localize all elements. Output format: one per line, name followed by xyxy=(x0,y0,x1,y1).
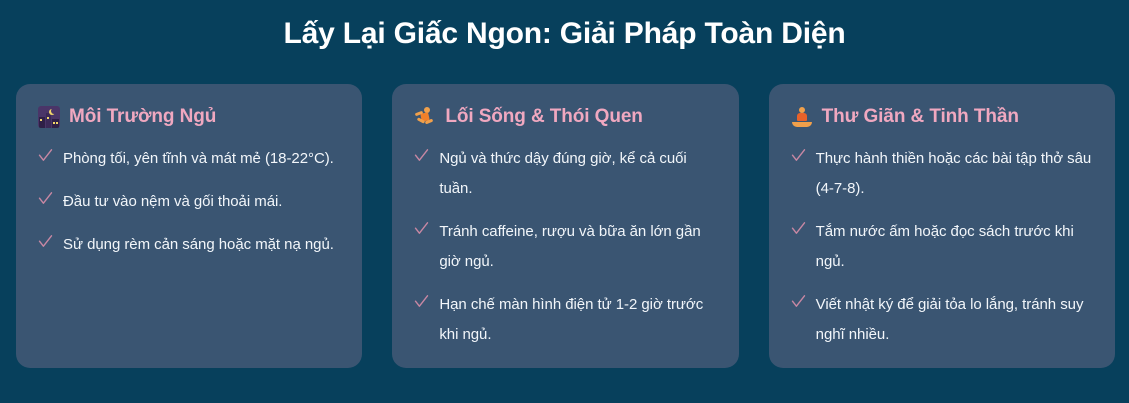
check-icon xyxy=(791,148,806,170)
person-in-lotus-position-icon xyxy=(791,106,813,128)
cards-row: Môi Trường Ngủ Phòng tối, yên tĩnh và má… xyxy=(16,84,1115,368)
list-item: Tắm nước ấm hoặc đọc sách trước khi ngủ. xyxy=(791,217,1093,277)
list-item-text: Đầu tư vào nệm và gối thoải mái. xyxy=(63,187,282,217)
check-icon xyxy=(791,221,806,243)
list-item-text: Viết nhật ký để giải tỏa lo lắng, tránh … xyxy=(816,290,1093,350)
check-icon xyxy=(414,294,429,316)
list-item: Phòng tối, yên tĩnh và mát mẻ (18-22°C). xyxy=(38,144,340,174)
card-heading: Môi Trường Ngủ xyxy=(38,104,340,130)
check-icon xyxy=(38,148,53,170)
card-lifestyle-habits: Lối Sống & Thói Quen Ngủ và thức dậy đún… xyxy=(392,84,738,368)
list-item: Ngủ và thức dậy đúng giờ, kể cả cuối tuầ… xyxy=(414,144,716,204)
infographic-page: Lấy Lại Giấc Ngon: Giải Pháp Toàn Diện M… xyxy=(0,0,1129,403)
card-heading-label: Lối Sống & Thói Quen xyxy=(445,105,642,129)
card-heading-label: Môi Trường Ngủ xyxy=(69,105,216,129)
card-list: Thực hành thiền hoặc các bài tập thở sâu… xyxy=(791,144,1093,350)
night-with-stars-icon xyxy=(38,106,60,128)
list-item-text: Ngủ và thức dậy đúng giờ, kể cả cuối tuầ… xyxy=(439,144,716,204)
check-icon xyxy=(414,148,429,170)
list-item: Đầu tư vào nệm và gối thoải mái. xyxy=(38,187,340,217)
list-item: Tránh caffeine, rượu và bữa ăn lớn gần g… xyxy=(414,217,716,277)
card-list: Phòng tối, yên tĩnh và mát mẻ (18-22°C).… xyxy=(38,144,340,260)
card-relaxation-mind: Thư Giãn & Tinh Thần Thực hành thiền hoặ… xyxy=(769,84,1115,368)
list-item-text: Tắm nước ấm hoặc đọc sách trước khi ngủ. xyxy=(816,217,1093,277)
card-sleep-environment: Môi Trường Ngủ Phòng tối, yên tĩnh và má… xyxy=(16,84,362,368)
list-item: Viết nhật ký để giải tỏa lo lắng, tránh … xyxy=(791,290,1093,350)
list-item-text: Sử dụng rèm cản sáng hoặc mặt nạ ngủ. xyxy=(63,230,334,260)
list-item-text: Thực hành thiền hoặc các bài tập thở sâu… xyxy=(816,144,1093,204)
check-icon xyxy=(414,221,429,243)
list-item-text: Tránh caffeine, rượu và bữa ăn lớn gần g… xyxy=(439,217,716,277)
check-icon xyxy=(38,191,53,213)
running-person-icon xyxy=(414,106,436,128)
list-item: Thực hành thiền hoặc các bài tập thở sâu… xyxy=(791,144,1093,204)
check-icon xyxy=(38,234,53,256)
check-icon xyxy=(791,294,806,316)
card-list: Ngủ và thức dậy đúng giờ, kể cả cuối tuầ… xyxy=(414,144,716,350)
card-heading-label: Thư Giãn & Tinh Thần xyxy=(822,105,1019,129)
list-item: Sử dụng rèm cản sáng hoặc mặt nạ ngủ. xyxy=(38,230,340,260)
card-heading: Lối Sống & Thói Quen xyxy=(414,104,716,130)
list-item-text: Phòng tối, yên tĩnh và mát mẻ (18-22°C). xyxy=(63,144,334,174)
page-title: Lấy Lại Giấc Ngon: Giải Pháp Toàn Diện xyxy=(0,14,1129,54)
card-heading: Thư Giãn & Tinh Thần xyxy=(791,104,1093,130)
list-item-text: Hạn chế màn hình điện tử 1-2 giờ trước k… xyxy=(439,290,716,350)
list-item: Hạn chế màn hình điện tử 1-2 giờ trước k… xyxy=(414,290,716,350)
